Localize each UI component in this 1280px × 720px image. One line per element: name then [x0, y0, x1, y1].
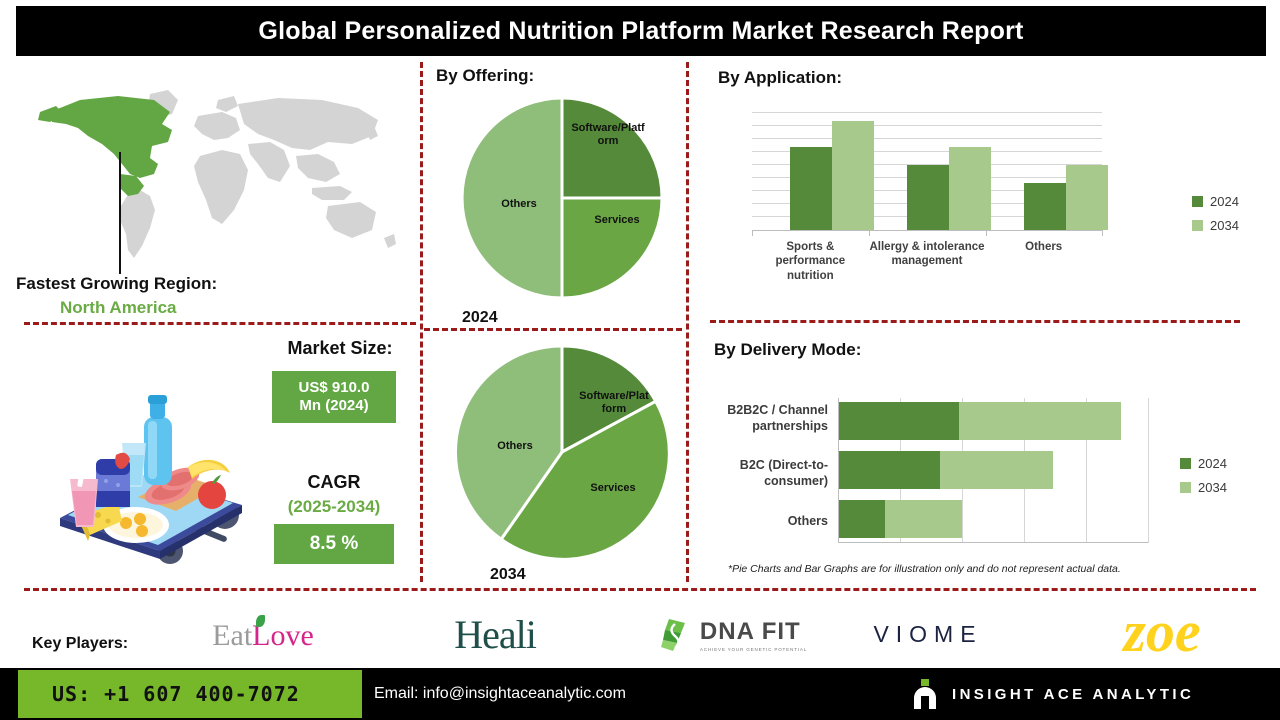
- hbar-b2b2c: [839, 402, 1121, 440]
- fastest-growing-region-value: North America: [60, 298, 177, 318]
- cagr-value: 8.5 %: [310, 533, 359, 556]
- viome-logo-text: VIOME: [873, 621, 982, 648]
- hseg-b2b2c-2024: [839, 402, 959, 440]
- infographic-root: Global Personalized Nutrition Platform M…: [0, 0, 1280, 720]
- insightace-mark-icon: [912, 679, 938, 709]
- delivery-label-others: Others: [700, 514, 828, 530]
- pie-2024-label-software: Software/Platf orm: [560, 122, 656, 147]
- heali-logo-text: Heali: [454, 611, 536, 658]
- legend-label-2024: 2024: [1210, 194, 1239, 209]
- market-size-value-box: US$ 910.0 Mn (2024): [272, 371, 396, 423]
- cagr-value-box: 8.5 %: [274, 524, 394, 564]
- axis-tick: [869, 230, 870, 236]
- page-title: Global Personalized Nutrition Platform M…: [258, 17, 1023, 46]
- zoe-logo: zoe: [1092, 604, 1232, 660]
- footer-brand-text: INSIGHT ACE ANALYTIC: [952, 686, 1194, 703]
- hbar-b2c: [839, 451, 1053, 489]
- category-label-others: Others: [985, 240, 1102, 283]
- pie-2034-label-services: Services: [578, 482, 648, 495]
- bar-others-2024: [1024, 183, 1066, 230]
- nutrition-illustration: [30, 355, 270, 570]
- section-offering-title: By Offering:: [436, 66, 534, 86]
- fastest-growing-region-label: Fastest Growing Region:: [16, 274, 217, 294]
- legend-swatch-2034: [1180, 482, 1191, 493]
- legend-label-2034: 2034: [1198, 480, 1227, 495]
- divider-horizontal-left: [24, 322, 416, 325]
- bar-allergy-2034: [949, 147, 991, 230]
- legend-label-2024: 2024: [1198, 456, 1227, 471]
- cagr-years: (2025-2034): [262, 497, 406, 517]
- hseg-b2c-2034: [940, 451, 1053, 489]
- application-legend: 2024 2034: [1192, 194, 1239, 242]
- bar-others-2034: [1066, 165, 1108, 230]
- axis-tick: [752, 230, 753, 236]
- eatlove-logo-eat: Eat: [212, 619, 252, 653]
- dnafit-logo: DNA FIT ACHIEVE YOUR GENETIC POTENTIAL: [648, 612, 818, 658]
- page-title-bar: Global Personalized Nutrition Platform M…: [16, 6, 1266, 56]
- leaf-icon: [256, 615, 265, 627]
- cagr-label: CAGR: [272, 472, 396, 493]
- hseg-b2c-2024: [839, 451, 940, 489]
- pie-2024-label-services: Services: [582, 214, 652, 227]
- divider-vertical-left: [420, 62, 423, 582]
- heali-logo: Heali: [420, 610, 570, 658]
- charts-footnote: *Pie Charts and Bar Graphs are for illus…: [728, 563, 1121, 575]
- pie-2034-label-software: Software/Plat form: [567, 390, 661, 415]
- application-plot-area: [752, 112, 1102, 230]
- legend-item-2024: 2024: [1180, 456, 1227, 471]
- hseg-others-2024: [839, 500, 885, 538]
- delivery-legend: 2024 2034: [1180, 456, 1227, 504]
- footer-brand: INSIGHT ACE ANALYTIC: [912, 668, 1194, 720]
- delivery-label-b2c: B2C (Direct-to-consumer): [700, 458, 828, 489]
- pie-2034-year: 2034: [490, 566, 526, 584]
- category-label-sports: Sports & performance nutrition: [752, 240, 869, 283]
- divider-vertical-right: [686, 62, 689, 582]
- bar-sports-2034: [832, 121, 874, 230]
- legend-swatch-2024: [1180, 458, 1191, 469]
- pie-2024-label-others: Others: [484, 198, 554, 211]
- zoe-logo-text: zoe: [1123, 603, 1200, 661]
- footer-email[interactable]: Email: info@insightaceanalytic.com: [374, 668, 626, 720]
- gridline: [752, 112, 1102, 113]
- gridline: [1148, 398, 1149, 543]
- dnafit-logo-text: DNA FIT: [700, 618, 801, 646]
- section-delivery-title: By Delivery Mode:: [714, 340, 861, 360]
- application-category-labels: Sports & performance nutrition Allergy &…: [752, 240, 1102, 283]
- market-size-value-line2: Mn (2024): [299, 397, 368, 415]
- legend-label-2034: 2034: [1210, 218, 1239, 233]
- key-players-label: Key Players:: [32, 635, 128, 653]
- divider-horizontal-bottom: [24, 588, 1256, 591]
- footer-phone-panel: US: +1 607 400-7072: [18, 670, 362, 718]
- eatlove-logo-love: Love: [252, 619, 314, 653]
- legend-item-2034: 2034: [1180, 480, 1227, 495]
- market-size-value-line1: US$ 910.0: [299, 379, 370, 397]
- section-application-title: By Application:: [718, 68, 842, 88]
- hseg-others-2034: [885, 500, 962, 538]
- application-axis-baseline: [752, 230, 1102, 231]
- legend-swatch-2024: [1192, 196, 1203, 207]
- divider-horizontal-pies: [424, 328, 682, 331]
- dna-crystal-icon: [659, 617, 693, 653]
- application-bar-chart: Sports & performance nutrition Allergy &…: [752, 112, 1182, 297]
- category-label-allergy: Allergy & intolerance management: [869, 240, 986, 283]
- hseg-b2b2c-2034: [959, 402, 1121, 440]
- dnafit-logo-tagline: ACHIEVE YOUR GENETIC POTENTIAL: [700, 647, 807, 652]
- axis-tick: [986, 230, 987, 236]
- legend-swatch-2034: [1192, 220, 1203, 231]
- pie-2034-label-others: Others: [480, 440, 550, 453]
- pie-2024-year: 2024: [462, 309, 498, 327]
- divider-horizontal-right: [710, 320, 1240, 323]
- bar-allergy-2024: [907, 165, 949, 230]
- axis-tick: [1102, 230, 1103, 236]
- legend-item-2024: 2024: [1192, 194, 1239, 209]
- delivery-baseline: [838, 542, 1148, 543]
- map-pointer-line: [119, 152, 121, 274]
- delivery-label-b2b2c: B2B2C / Channel partnerships: [700, 403, 828, 434]
- viome-logo: VIOME: [848, 614, 1008, 654]
- eatlove-logo: Eat Love: [188, 614, 338, 658]
- world-map: [22, 78, 418, 268]
- north-america-highlight: [38, 96, 172, 196]
- delivery-mode-chart: [838, 398, 1148, 543]
- legend-item-2034: 2034: [1192, 218, 1239, 233]
- market-size-label: Market Size:: [270, 338, 410, 359]
- bar-sports-2024: [790, 147, 832, 230]
- hbar-others: [839, 500, 962, 538]
- gridline: [752, 125, 1102, 126]
- footer-phone[interactable]: US: +1 607 400-7072: [52, 682, 300, 706]
- gridline: [752, 138, 1102, 139]
